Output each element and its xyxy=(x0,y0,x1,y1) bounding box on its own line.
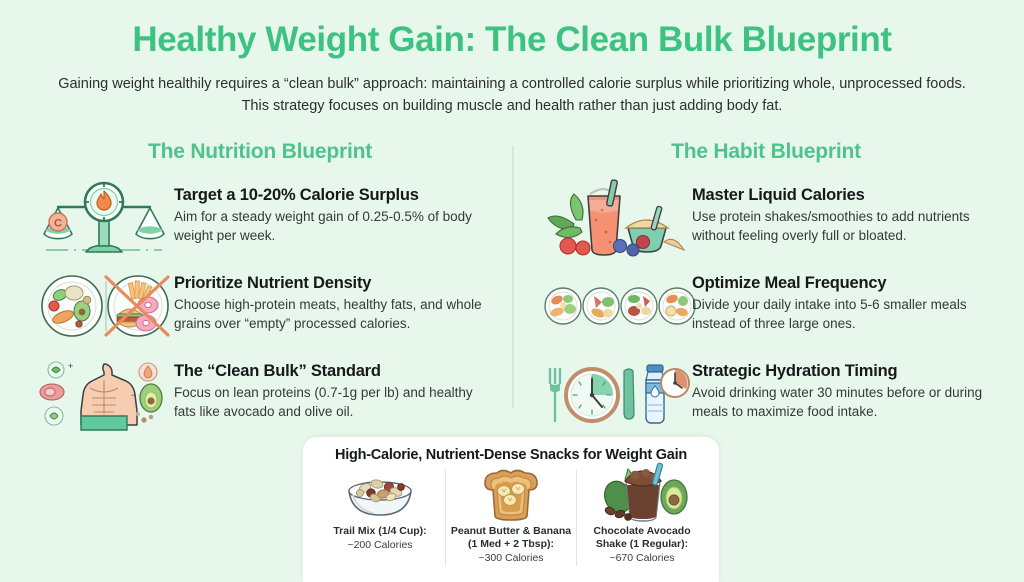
snack-calories: ~670 Calories xyxy=(581,552,703,566)
snack-calories: ~300 Calories xyxy=(450,552,572,566)
habit-column: The Habit Blueprint xyxy=(512,140,990,446)
nutrition-column: The Nutrition Blueprint C xyxy=(34,140,512,446)
list-item-heading: Prioritize Nutrient Density xyxy=(174,274,486,294)
snack-name: Peanut Butter & Banana (1 Med + 2 Tbsp): xyxy=(450,525,572,551)
clock-water-bottle-icon xyxy=(542,358,692,430)
infographic-page: Healthy Weight Gain: The Clean Bulk Blue… xyxy=(0,0,1024,576)
list-item-text: Master Liquid Calories Use protein shake… xyxy=(692,182,990,245)
list-item-text: Target a 10-20% Calorie Surplus Aim for … xyxy=(174,182,486,245)
balance-scale-calories-icon: C xyxy=(34,182,174,254)
smoothie-protein-icon xyxy=(542,182,692,254)
snacks-row: Trail Mix (1/4 Cup): ~200 Calories xyxy=(315,469,707,566)
snack-calories: ~200 Calories xyxy=(319,539,441,553)
list-item-description: Use protein shakes/smoothies to add nutr… xyxy=(692,208,990,244)
list-item-heading: The “Clean Bulk” Standard xyxy=(174,362,486,382)
snacks-card-title: High-Calorie, Nutrient-Dense Snacks for … xyxy=(315,447,707,463)
list-item-description: Aim for a steady weight gain of 0.25-0.5… xyxy=(174,208,486,244)
list-item: + − xyxy=(34,358,486,430)
habit-column-title: The Habit Blueprint xyxy=(542,140,990,164)
list-item-text: Strategic Hydration Timing Avoid drinkin… xyxy=(692,358,990,421)
header: Healthy Weight Gain: The Clean Bulk Blue… xyxy=(0,0,1024,118)
snack-name: Trail Mix (1/4 Cup): xyxy=(319,525,441,538)
healthy-vs-junk-plate-icon xyxy=(34,270,174,342)
svg-text:+: + xyxy=(68,361,73,371)
svg-text:C: C xyxy=(54,217,62,229)
snacks-card: High-Calorie, Nutrient-Dense Snacks for … xyxy=(303,437,719,582)
peanut-butter-banana-toast-icon xyxy=(450,469,572,521)
four-meal-plates-icon xyxy=(542,270,692,342)
list-item: Master Liquid Calories Use protein shake… xyxy=(542,182,990,254)
list-item-heading: Optimize Meal Frequency xyxy=(692,274,990,294)
column-divider xyxy=(512,146,514,408)
list-item-description: Focus on lean proteins (0.7-1g per lb) a… xyxy=(174,384,486,420)
lean-body-nutrients-icon: + − xyxy=(34,358,174,430)
list-item-description: Choose high-protein meats, healthy fats,… xyxy=(174,296,486,332)
list-item: Strategic Hydration Timing Avoid drinkin… xyxy=(542,358,990,430)
nutrition-column-title: The Nutrition Blueprint xyxy=(34,140,486,164)
list-item-heading: Strategic Hydration Timing xyxy=(692,362,990,382)
page-title: Healthy Weight Gain: The Clean Bulk Blue… xyxy=(44,22,980,59)
svg-text:−: − xyxy=(131,390,136,400)
page-subtitle: Gaining weight healthily requires a “cle… xyxy=(57,73,967,118)
chocolate-avocado-shake-icon xyxy=(581,469,703,521)
list-item-description: Divide your daily intake into 5-6 smalle… xyxy=(692,296,990,332)
list-item-text: Prioritize Nutrient Density Choose high-… xyxy=(174,270,486,333)
columns-container: The Nutrition Blueprint C xyxy=(0,140,1024,446)
snack-item: Trail Mix (1/4 Cup): ~200 Calories xyxy=(315,469,445,553)
list-item: Prioritize Nutrient Density Choose high-… xyxy=(34,270,486,342)
snack-name: Chocolate Avocado Shake (1 Regular): xyxy=(581,525,703,551)
list-item-heading: Master Liquid Calories xyxy=(692,186,990,206)
trail-mix-bowl-icon xyxy=(319,469,441,521)
list-item-heading: Target a 10-20% Calorie Surplus xyxy=(174,186,486,206)
snack-item: Peanut Butter & Banana (1 Med + 2 Tbsp):… xyxy=(445,469,576,566)
list-item: C Target a 10-20% Calorie Surplus Aim fo… xyxy=(34,182,486,254)
list-item-text: The “Clean Bulk” Standard Focus on lean … xyxy=(174,358,486,421)
list-item: Optimize Meal Frequency Divide your dail… xyxy=(542,270,990,342)
list-item-text: Optimize Meal Frequency Divide your dail… xyxy=(692,270,990,333)
snack-item: Chocolate Avocado Shake (1 Regular): ~67… xyxy=(576,469,707,566)
list-item-description: Avoid drinking water 30 minutes before o… xyxy=(692,384,990,420)
